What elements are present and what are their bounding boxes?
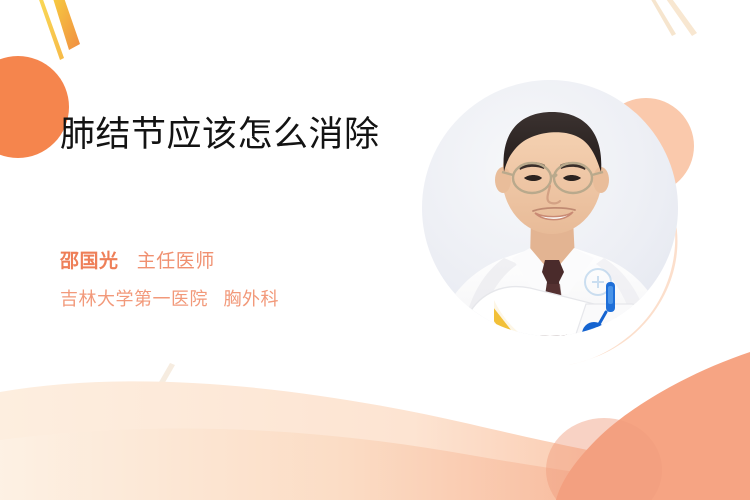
doctor-affiliation-row: 吉林大学第一医院 胸外科 [60, 286, 279, 313]
doctor-portrait [418, 68, 718, 380]
poster-canvas: 肺结节应该怎么消除 邵国光 主任医师 吉林大学第一医院 胸外科 [0, 0, 750, 500]
doctor-name: 邵国光 [60, 251, 119, 272]
doctor-name-row: 邵国光 主任医师 [60, 248, 279, 277]
doctor-hospital: 吉林大学第一医院 [60, 289, 208, 309]
stripes-top-left-icon [37, 0, 80, 60]
stripes-top-right-icon [649, 0, 697, 36]
doctor-portrait-illustration [418, 68, 718, 380]
orange-circle-decor [0, 56, 69, 158]
doctor-department: 胸外科 [224, 289, 280, 309]
page-title: 肺结节应该怎么消除 [60, 112, 395, 158]
doctor-hand [618, 317, 649, 342]
headline-block: 肺结节应该怎么消除 [60, 112, 420, 158]
doctor-role: 主任医师 [137, 251, 215, 272]
doctor-credentials: 邵国光 主任医师 吉林大学第一医院 胸外科 [60, 248, 279, 313]
